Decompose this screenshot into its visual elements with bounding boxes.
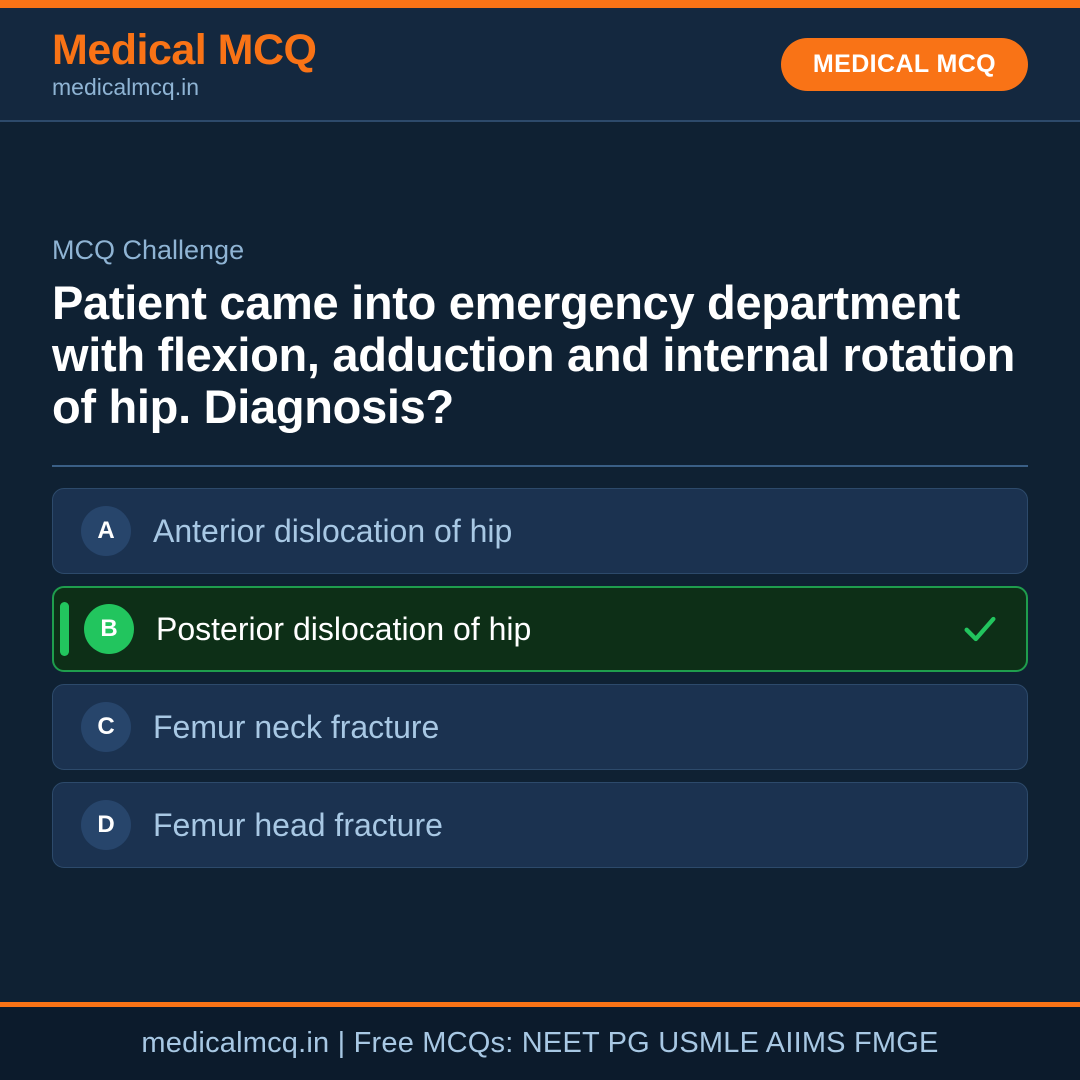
brand: Medical MCQ medicalmcq.in	[52, 28, 317, 100]
option-d[interactable]: D Femur head fracture	[52, 782, 1028, 868]
option-label: Femur head fracture	[153, 806, 1001, 844]
question-text: Patient came into emergency department w…	[52, 277, 1028, 432]
section-divider	[52, 465, 1028, 467]
footer-text: medicalmcq.in | Free MCQs: NEET PG USMLE…	[141, 1027, 938, 1060]
top-accent-bar	[0, 0, 1080, 8]
mcq-card: Medical MCQ medicalmcq.in MEDICAL MCQ MC…	[0, 0, 1080, 1080]
eyebrow-label: MCQ Challenge	[52, 234, 1028, 266]
brand-title: Medical MCQ	[52, 28, 317, 73]
header-badge: MEDICAL MCQ	[781, 38, 1028, 91]
option-b[interactable]: B Posterior dislocation of hip	[52, 586, 1028, 672]
option-label: Anterior dislocation of hip	[153, 512, 1001, 550]
option-letter-badge: C	[81, 702, 131, 752]
main-content: MCQ Challenge Patient came into emergenc…	[0, 122, 1080, 1002]
option-label: Posterior dislocation of hip	[156, 610, 960, 648]
header: Medical MCQ medicalmcq.in MEDICAL MCQ	[0, 8, 1080, 122]
option-label: Femur neck fracture	[153, 708, 1001, 746]
options-list: A Anterior dislocation of hip B Posterio…	[52, 488, 1028, 868]
option-a[interactable]: A Anterior dislocation of hip	[52, 488, 1028, 574]
option-letter-badge: B	[84, 604, 134, 654]
footer: medicalmcq.in | Free MCQs: NEET PG USMLE…	[0, 1002, 1080, 1080]
option-letter-badge: A	[81, 506, 131, 556]
option-letter-badge: D	[81, 800, 131, 850]
option-c[interactable]: C Femur neck fracture	[52, 684, 1028, 770]
brand-url: medicalmcq.in	[52, 75, 317, 100]
correct-accent-bar	[60, 602, 69, 656]
check-icon	[960, 609, 1000, 649]
